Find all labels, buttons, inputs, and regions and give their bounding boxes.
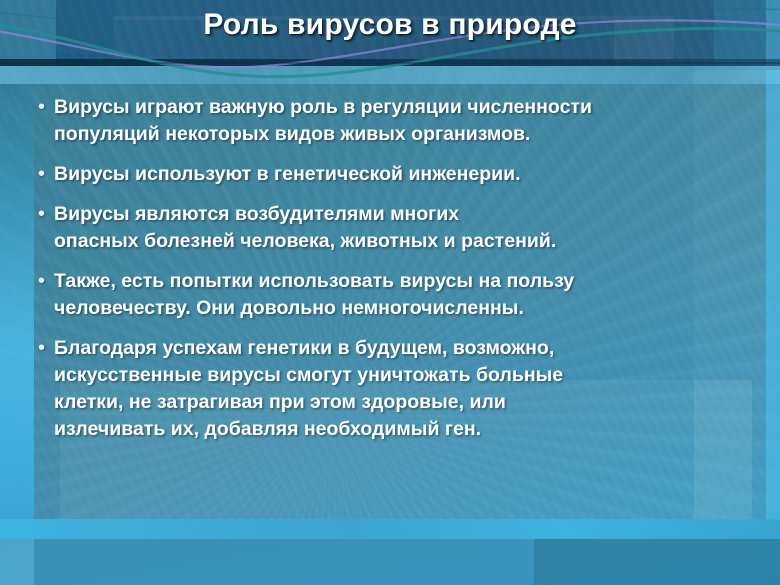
bottom-fill-band: [0, 539, 780, 585]
bullet-marker-icon: •: [30, 161, 54, 188]
presentation-slide: Роль вирусов в природе • Вирусы играют в…: [0, 0, 780, 585]
bullet-text: Также, есть попытки использовать вирусы …: [54, 268, 746, 322]
list-item: • Вирусы играют важную роль в регуляции …: [30, 94, 746, 148]
page-title: Роль вирусов в природе: [0, 8, 780, 42]
bullet-marker-icon: •: [30, 201, 54, 228]
bullet-text: Вирусы играют важную роль в регуляции чи…: [54, 94, 746, 148]
list-item: • Благодаря успехам генетики в будущем, …: [30, 335, 746, 443]
list-item: • Также, есть попытки использовать вирус…: [30, 268, 746, 322]
bottom-left-accent-rect: [0, 539, 34, 585]
bullet-text: Вирусы используют в генетической инженер…: [54, 161, 746, 188]
sub-banner-light-strip: [0, 66, 780, 84]
left-edge-glow: [0, 66, 34, 585]
right-edge-accent-rect: [766, 70, 780, 520]
bottom-right-dark-rect: [534, 539, 780, 585]
banner-bottom-dark-strip: [0, 59, 780, 66]
list-item: • Вирусы являются возбудителями многих о…: [30, 201, 746, 255]
bullet-marker-icon: •: [30, 94, 54, 121]
bottom-light-band: [0, 519, 780, 539]
bullet-marker-icon: •: [30, 335, 54, 362]
bullet-text: Вирусы являются возбудителями многих опа…: [54, 201, 746, 255]
bullet-text: Благодаря успехам генетики в будущем, во…: [54, 335, 746, 443]
bullet-list: • Вирусы играют важную роль в регуляции …: [30, 94, 746, 456]
list-item: • Вирусы используют в генетической инжен…: [30, 161, 746, 188]
bullet-marker-icon: •: [30, 268, 54, 295]
